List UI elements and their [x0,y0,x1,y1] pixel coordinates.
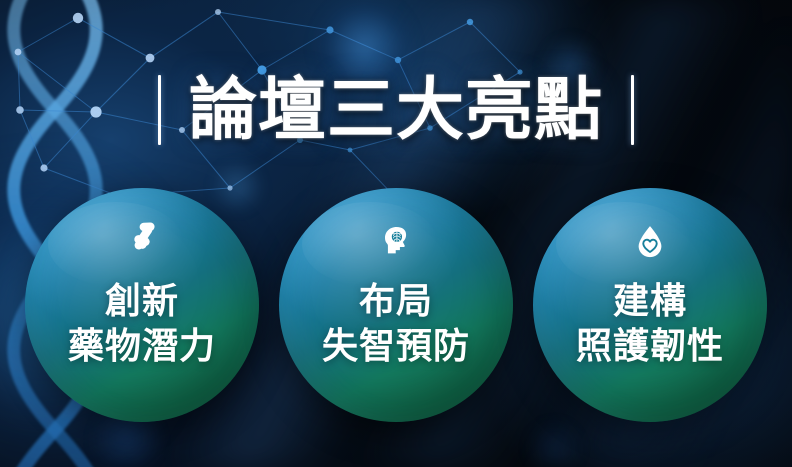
highlight-bubble-3[interactable]: 建構 照護韌性 [533,188,767,422]
title-left-rule [158,75,161,145]
highlight-bubble-list: 創新 藥物潛力 [0,188,792,424]
highlight-bubble-1[interactable]: 創新 藥物潛力 [25,188,259,422]
page-title: 論壇三大亮點 [189,76,603,144]
highlight-bubble-1-line2: 藥物潛力 [68,323,216,368]
highlight-bubble-1-label: 創新 藥物潛力 [68,278,216,369]
title-right-rule [631,75,634,145]
droplet-heart-icon [628,220,672,264]
highlight-bubble-2-line2: 失智預防 [322,323,470,368]
brain-head-icon [374,220,418,264]
highlight-bubble-3-line1: 建構 [576,278,724,323]
highlight-bubble-2-line1: 布局 [322,278,470,323]
banner-graphic: 論壇三大亮點 創新 藥物潛力 [0,0,792,467]
highlight-bubble-3-line2: 照護韌性 [576,323,724,368]
highlight-bubble-3-label: 建構 照護韌性 [576,278,724,369]
pills-icon [120,220,164,264]
banner-title-row: 論壇三大亮點 [0,68,792,152]
highlight-bubble-1-line1: 創新 [68,278,216,323]
highlight-bubble-2-label: 布局 失智預防 [322,278,470,369]
highlight-bubble-2[interactable]: 布局 失智預防 [279,188,513,422]
